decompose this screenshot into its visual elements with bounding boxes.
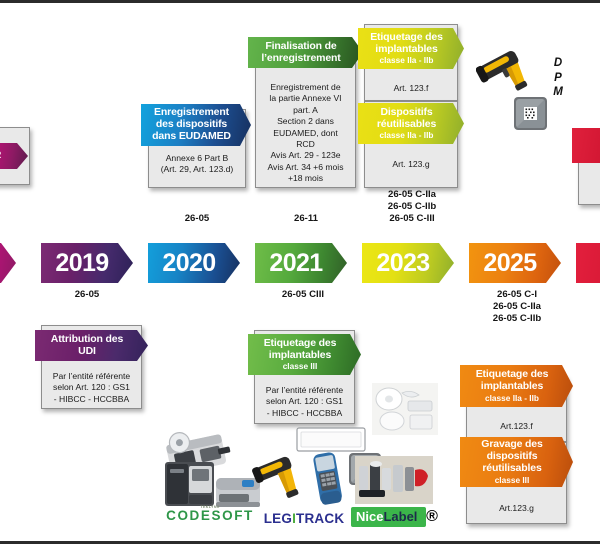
date-label-2025-below: 26-05 C-I 26-05 C-IIa 26-05 C-IIb xyxy=(470,289,564,324)
industrial-printer-image xyxy=(163,460,216,508)
logo-legitrack: LEGITRACK xyxy=(258,511,350,526)
ribbon-reutilisables-2023-line2: réutilisables xyxy=(377,119,436,131)
logo-codesoft-name: CODESOFT xyxy=(166,508,254,523)
ribbon-etiquetage-classe3-line1: Etiquetage des xyxy=(264,338,337,350)
bottom-divider xyxy=(0,541,600,544)
ribbon-finalisation-line1: Finalisation de xyxy=(265,41,336,53)
year-2017[interactable]: 7 xyxy=(0,243,16,283)
thermal-ribbons-image xyxy=(355,456,433,504)
logo-nicelabel: NiceLabel ® xyxy=(351,508,438,526)
ribbon-etiquetage-2023-line1: Etiquetage des xyxy=(370,32,443,44)
ribbon-gravage-2025-line4: classe III xyxy=(495,475,530,485)
label-sheet-image xyxy=(296,427,366,452)
card-etiquetage-2025-body: Art.123.f xyxy=(466,421,567,432)
ribbon-etiquetage-2023-line2: implantables xyxy=(375,44,437,56)
ribbon-etiquetage-classe3: Etiquetage des implantables classe III xyxy=(248,334,361,375)
date-label-2021-above: 26-11 xyxy=(261,213,351,225)
card-etiquetage-classe3-body: Par l’entité référente selon Art. 120 : … xyxy=(254,385,355,419)
card-finalisation-body: Enregistrement de la partie Annexe VI pa… xyxy=(255,82,356,185)
ribbon-etiquetage-2025: Etiquetage des implantables classe IIa -… xyxy=(460,365,573,407)
ribbon-udi-line1: Attribution des xyxy=(51,334,123,346)
ribbon-etiquetage-2023-line3: classe IIa - IIb xyxy=(380,55,434,65)
ribbon-etiquetage-2023: Etiquetage des implantables classe IIa -… xyxy=(358,28,464,69)
year-2025[interactable]: 2025 xyxy=(469,243,561,283)
logo-legitrack-part2: TRACK xyxy=(296,511,344,526)
year-2020-label: 2020 xyxy=(162,249,215,278)
card-eudamed-body: Annexe 6 Part B (Art. 29, Art. 123.d) xyxy=(148,153,246,176)
ribbon-udi: Attribution des UDI xyxy=(35,330,148,361)
ribbon-eudamed: Enregistrement des dispositifs dans EUDA… xyxy=(141,104,251,146)
ribbon-etiquetage-2025-line2: implantables xyxy=(481,381,543,393)
year-2023[interactable]: 2023 xyxy=(362,243,454,283)
year-2021[interactable]: 2021 xyxy=(255,243,347,283)
ribbon-etiquetage-classe3-line2: implantables xyxy=(269,350,331,362)
label-rolls-image xyxy=(372,383,438,435)
ribbon-reutilisables-2023-line1: Dispositifs xyxy=(380,107,432,119)
ribbon-gravage-2025: Gravage des dispositifs réutilisables cl… xyxy=(460,437,573,487)
ribbon-reutilisables-2023: Dispositifs réutilisables classe IIa - I… xyxy=(358,103,464,144)
ribbon-mdr-label: MDR xyxy=(0,150,1,162)
card-gravage-2025-body: Art.123.g xyxy=(466,503,567,514)
year-2027[interactable]: 2 xyxy=(576,243,600,283)
ribbon-eudamed-line3: dans EUDAMED xyxy=(152,131,231,143)
ribbon-finalisation-line2: l’enregistrement xyxy=(261,53,340,65)
ribbon-finalisation: Finalisation de l’enregistrement xyxy=(248,37,363,68)
datamatrix-chip-image xyxy=(513,95,549,133)
top-divider xyxy=(0,0,600,3)
date-label-2023-above: 26-05 C-IIa 26-05 C-IIb 26-05 C-III xyxy=(366,189,458,224)
card-reutilisables-2023-body: Art. 123.g xyxy=(364,159,458,170)
ribbon-udi-line2: UDI xyxy=(78,346,96,358)
ribbon-etiquetage-classe3-line3: classe III xyxy=(283,361,318,371)
logo-nicelabel-part2: Label xyxy=(383,509,417,524)
logo-legitrack-part1: LEG xyxy=(264,511,292,526)
ribbon-2027-cut xyxy=(572,128,600,163)
dpm-annotation: D P M xyxy=(548,56,568,100)
barcode-scanner-image xyxy=(476,36,544,102)
year-2019[interactable]: 2019 xyxy=(41,243,133,283)
date-label-2019-below: 26-05 xyxy=(42,289,132,301)
ribbon-reutilisables-2023-line3: classe IIa - IIb xyxy=(380,130,434,140)
logo-codesoft: TEKLYNX CODESOFT xyxy=(160,505,260,523)
mobile-terminal-image xyxy=(305,450,351,510)
year-2025-label: 2025 xyxy=(483,249,536,278)
logo-nicelabel-part1: Nice xyxy=(356,509,383,524)
ribbon-gravage-2025-line3: réutilisables xyxy=(482,463,541,475)
ribbon-etiquetage-2025-line3: classe IIa - IIb xyxy=(485,393,539,403)
infographic-canvas: MDR Enregistrement des dispositifs dans … xyxy=(0,0,600,546)
card-etiquetage-2023-body: Art. 123.f xyxy=(364,83,458,94)
date-label-2021-below: 26-05 CIII xyxy=(256,289,350,301)
date-label-2020-above: 26-05 xyxy=(152,213,242,225)
year-2021-label: 2021 xyxy=(269,249,322,278)
year-2023-label: 2023 xyxy=(376,249,429,278)
year-2019-label: 2019 xyxy=(55,249,108,278)
handheld-scanner-image xyxy=(252,450,308,508)
logo-nicelabel-reg: ® xyxy=(426,508,438,525)
card-udi-body: Par l’entité référente selon Art. 120 : … xyxy=(41,371,142,405)
year-2020[interactable]: 2020 xyxy=(148,243,240,283)
